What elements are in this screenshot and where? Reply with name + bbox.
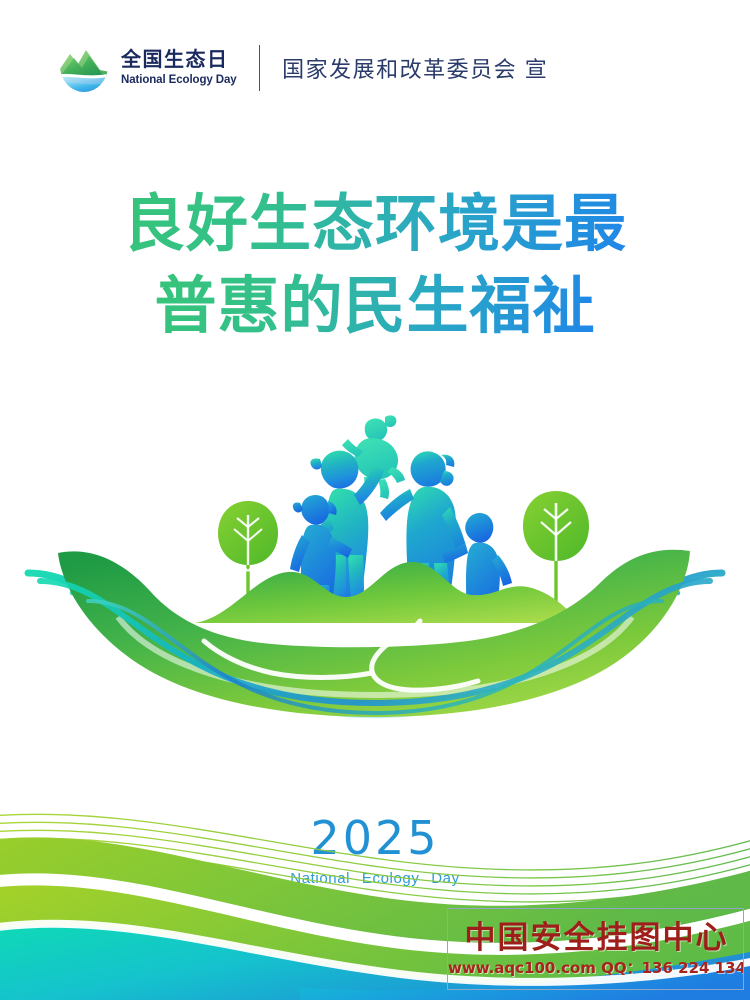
poster-header: 全国生态日 National Ecology Day 国家发展和改革委员会 宣	[56, 42, 548, 94]
poster-canvas: 全国生态日 National Ecology Day 国家发展和改革委员会 宣 …	[0, 0, 750, 1000]
watermark-badge: 中国安全挂图中心 www.aqc100.com QQ：136 224 1340	[447, 908, 744, 990]
brand-name-cn: 全国生态日	[121, 49, 237, 72]
header-divider	[259, 45, 261, 91]
title-line-2: 普惠的民生福祉	[0, 268, 750, 344]
green-hills	[195, 562, 580, 623]
title-line-1-text: 良好生态环境是最	[123, 186, 627, 262]
main-title: 良好生态环境是最 普惠的民生福祉	[0, 186, 750, 344]
brand-name-en: National Ecology Day	[121, 74, 237, 88]
issuing-organization: 国家发展和改革委员会 宣	[282, 52, 548, 84]
watermark-title: 中国安全挂图中心	[448, 912, 744, 957]
title-line-2-text: 普惠的民生福祉	[154, 268, 595, 344]
title-line-1: 良好生态环境是最	[0, 186, 750, 262]
mountain-water-emblem-icon	[56, 42, 112, 94]
brand-block: 全国生态日 National Ecology Day	[121, 49, 237, 88]
central-illustration	[0, 395, 750, 735]
watermark-url: www.aqc100.com QQ：136 224 1340	[448, 957, 744, 978]
